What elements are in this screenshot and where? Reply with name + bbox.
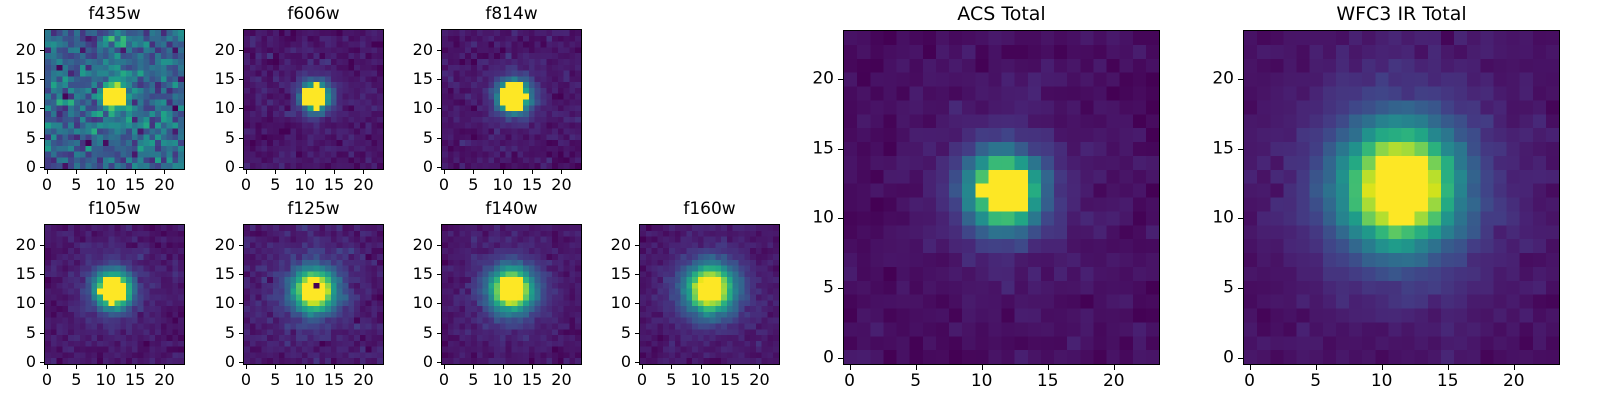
y-tick-label: 20 [1174, 70, 1234, 87]
y-tick-mark [1238, 218, 1243, 219]
x-tick-mark [1514, 365, 1515, 370]
x-tick-label: 10 [1371, 373, 1393, 390]
y-tick-label: 15 [1174, 140, 1234, 157]
y-tick-mark [1238, 149, 1243, 150]
x-tick-label: 0 [1244, 373, 1255, 390]
y-tick-label: 10 [1174, 210, 1234, 227]
panel-title: WFC3 IR Total [1243, 5, 1560, 24]
y-tick-mark [1238, 358, 1243, 359]
y-tick-mark [1238, 79, 1243, 80]
x-tick-label: 20 [1503, 373, 1525, 390]
figure-canvas: f435w0510152005101520f606w05101520051015… [0, 0, 1600, 400]
x-tick-mark [1316, 365, 1317, 370]
y-tick-label: 5 [1174, 280, 1234, 297]
x-tick-mark [1250, 365, 1251, 370]
y-tick-mark [1238, 288, 1243, 289]
x-tick-label: 5 [1310, 373, 1321, 390]
heatmap-pixels [1244, 31, 1559, 364]
panel-wfc3-ir-total: WFC3 IR Total0510152005101520 [0, 0, 1600, 400]
y-tick-label: 0 [1174, 350, 1234, 367]
x-tick-mark [1448, 365, 1449, 370]
x-tick-mark [1382, 365, 1383, 370]
x-tick-label: 15 [1437, 373, 1459, 390]
heatmap-image [1243, 30, 1560, 365]
